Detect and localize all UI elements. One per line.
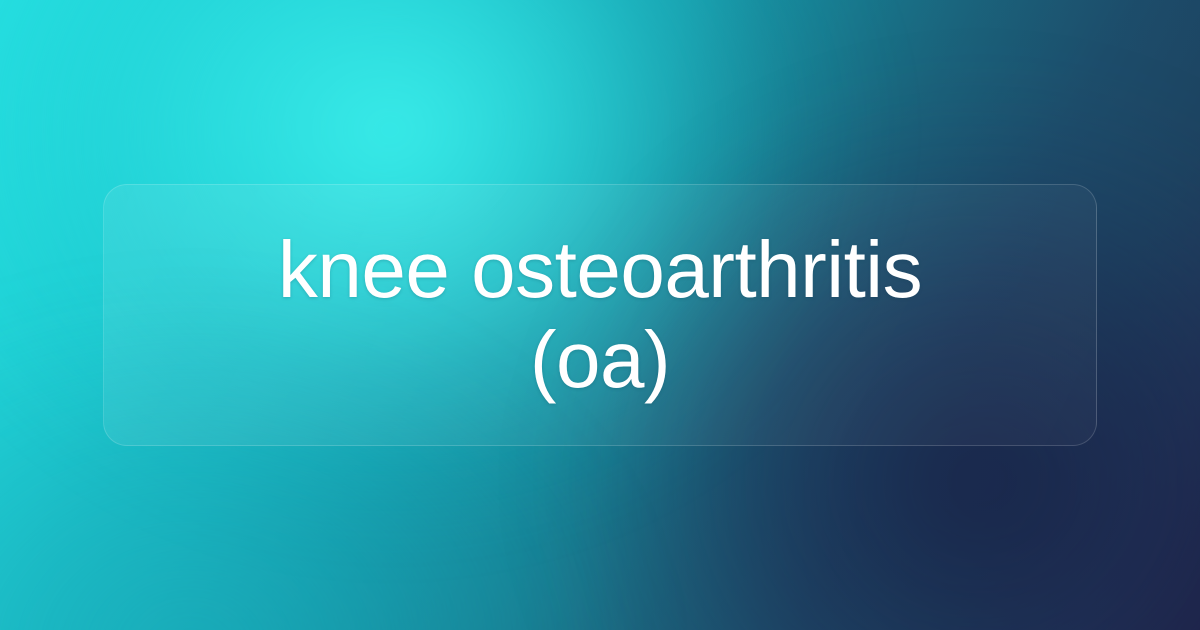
card-layer: knee osteoarthritis (oa) bbox=[0, 0, 1200, 630]
headline-card: knee osteoarthritis (oa) bbox=[103, 184, 1097, 446]
page-title: knee osteoarthritis (oa) bbox=[278, 225, 922, 405]
share-card-canvas: knee osteoarthritis (oa) bbox=[0, 0, 1200, 630]
